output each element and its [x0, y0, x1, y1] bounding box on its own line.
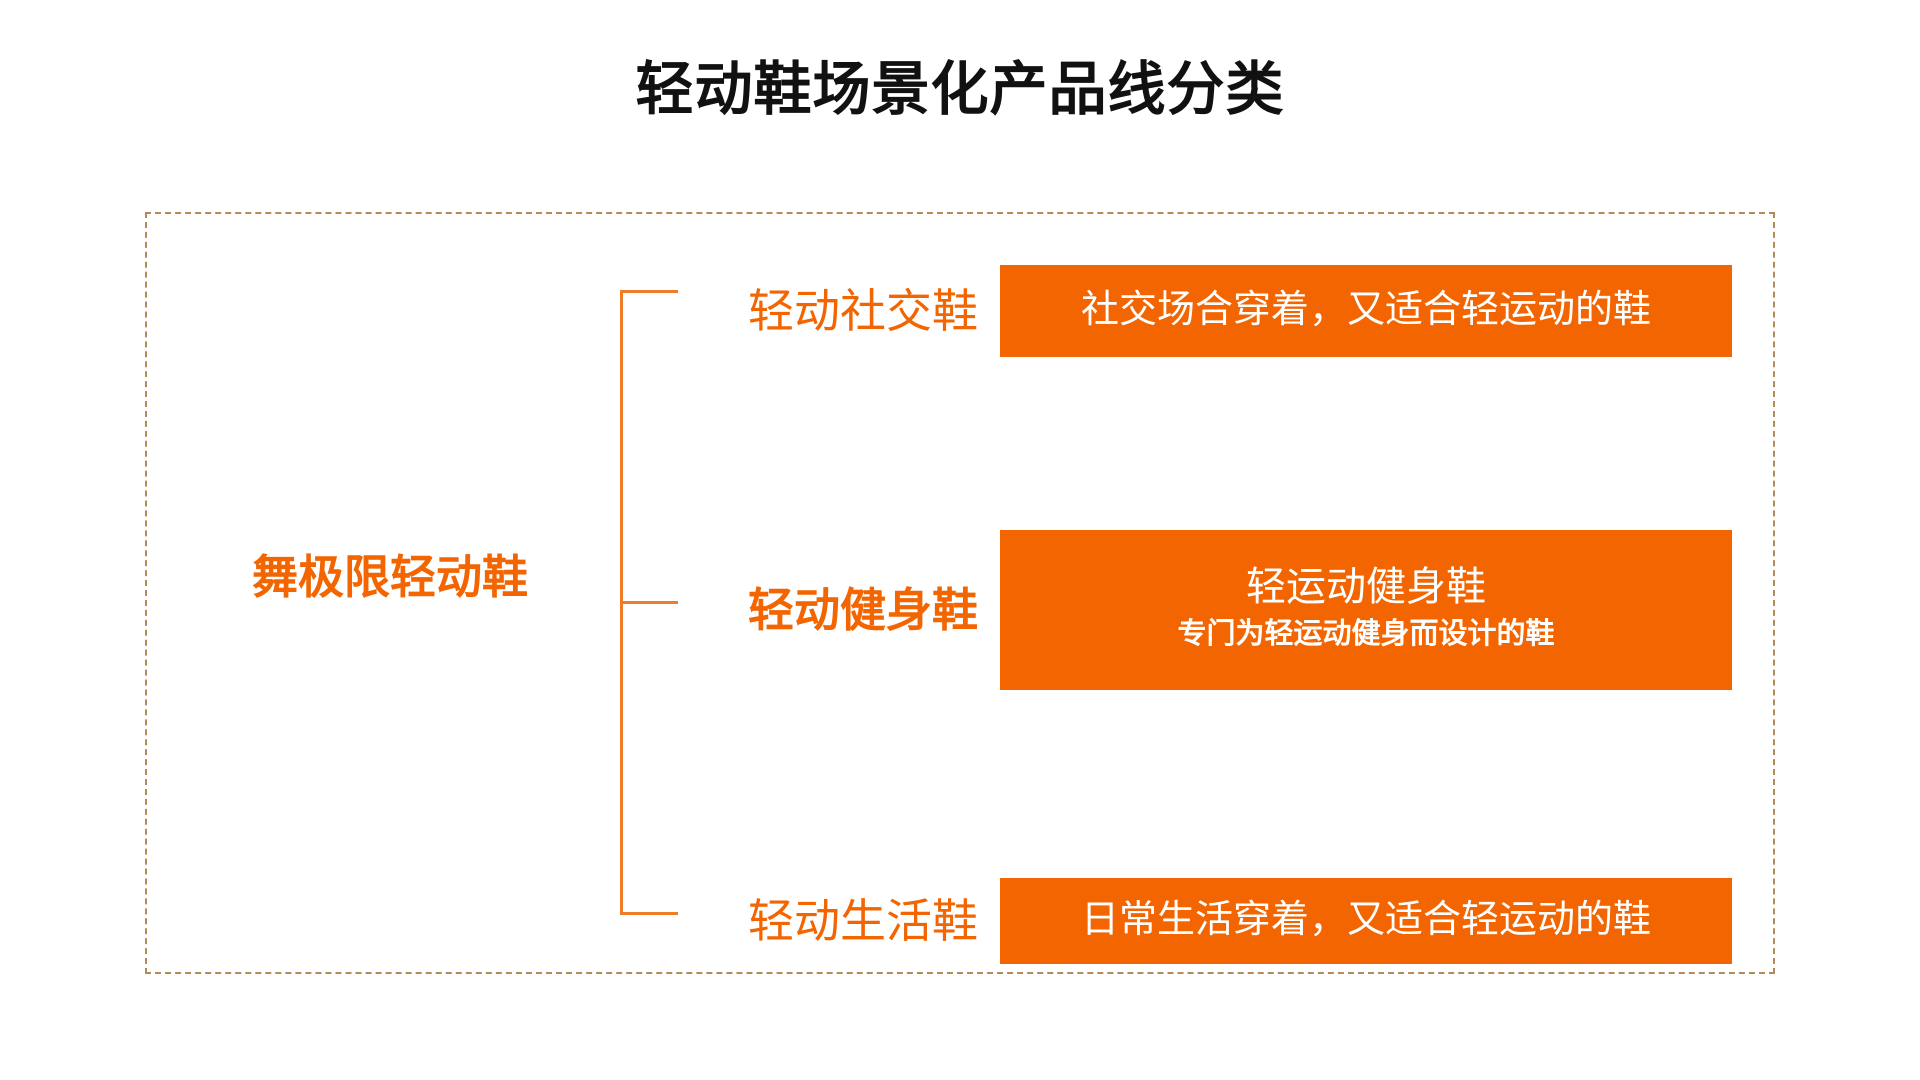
branch-box-fitness-subtitle: 专门为轻运动健身而设计的鞋: [1177, 616, 1554, 654]
root-node-label: 舞极限轻动鞋: [190, 551, 590, 604]
branch-box-fitness: 轻运动健身鞋 专门为轻运动健身而设计的鞋: [1000, 530, 1732, 690]
branch-box-social-text: 社交场合穿着，又适合轻运动的鞋: [1081, 290, 1651, 332]
branch-label-life: 轻动生活鞋: [660, 895, 1000, 948]
branch-label-fitness: 轻动健身鞋: [660, 584, 1000, 637]
branch-box-life-text: 日常生活穿着，又适合轻运动的鞋: [1081, 900, 1651, 942]
branch-box-fitness-title: 轻运动健身鞋: [1246, 562, 1486, 612]
branch-row-social: 轻动社交鞋 社交场合穿着，又适合轻运动的鞋: [660, 265, 1732, 357]
branch-box-life: 日常生活穿着，又适合轻运动的鞋: [1000, 878, 1732, 964]
branch-box-social: 社交场合穿着，又适合轻运动的鞋: [1000, 265, 1732, 357]
branch-row-life: 轻动生活鞋 日常生活穿着，又适合轻运动的鞋: [660, 878, 1732, 964]
branch-label-social: 轻动社交鞋: [660, 285, 1000, 338]
page-title: 轻动鞋场景化产品线分类: [0, 58, 1920, 122]
branch-row-fitness: 轻动健身鞋 轻运动健身鞋 专门为轻运动健身而设计的鞋: [660, 530, 1732, 690]
